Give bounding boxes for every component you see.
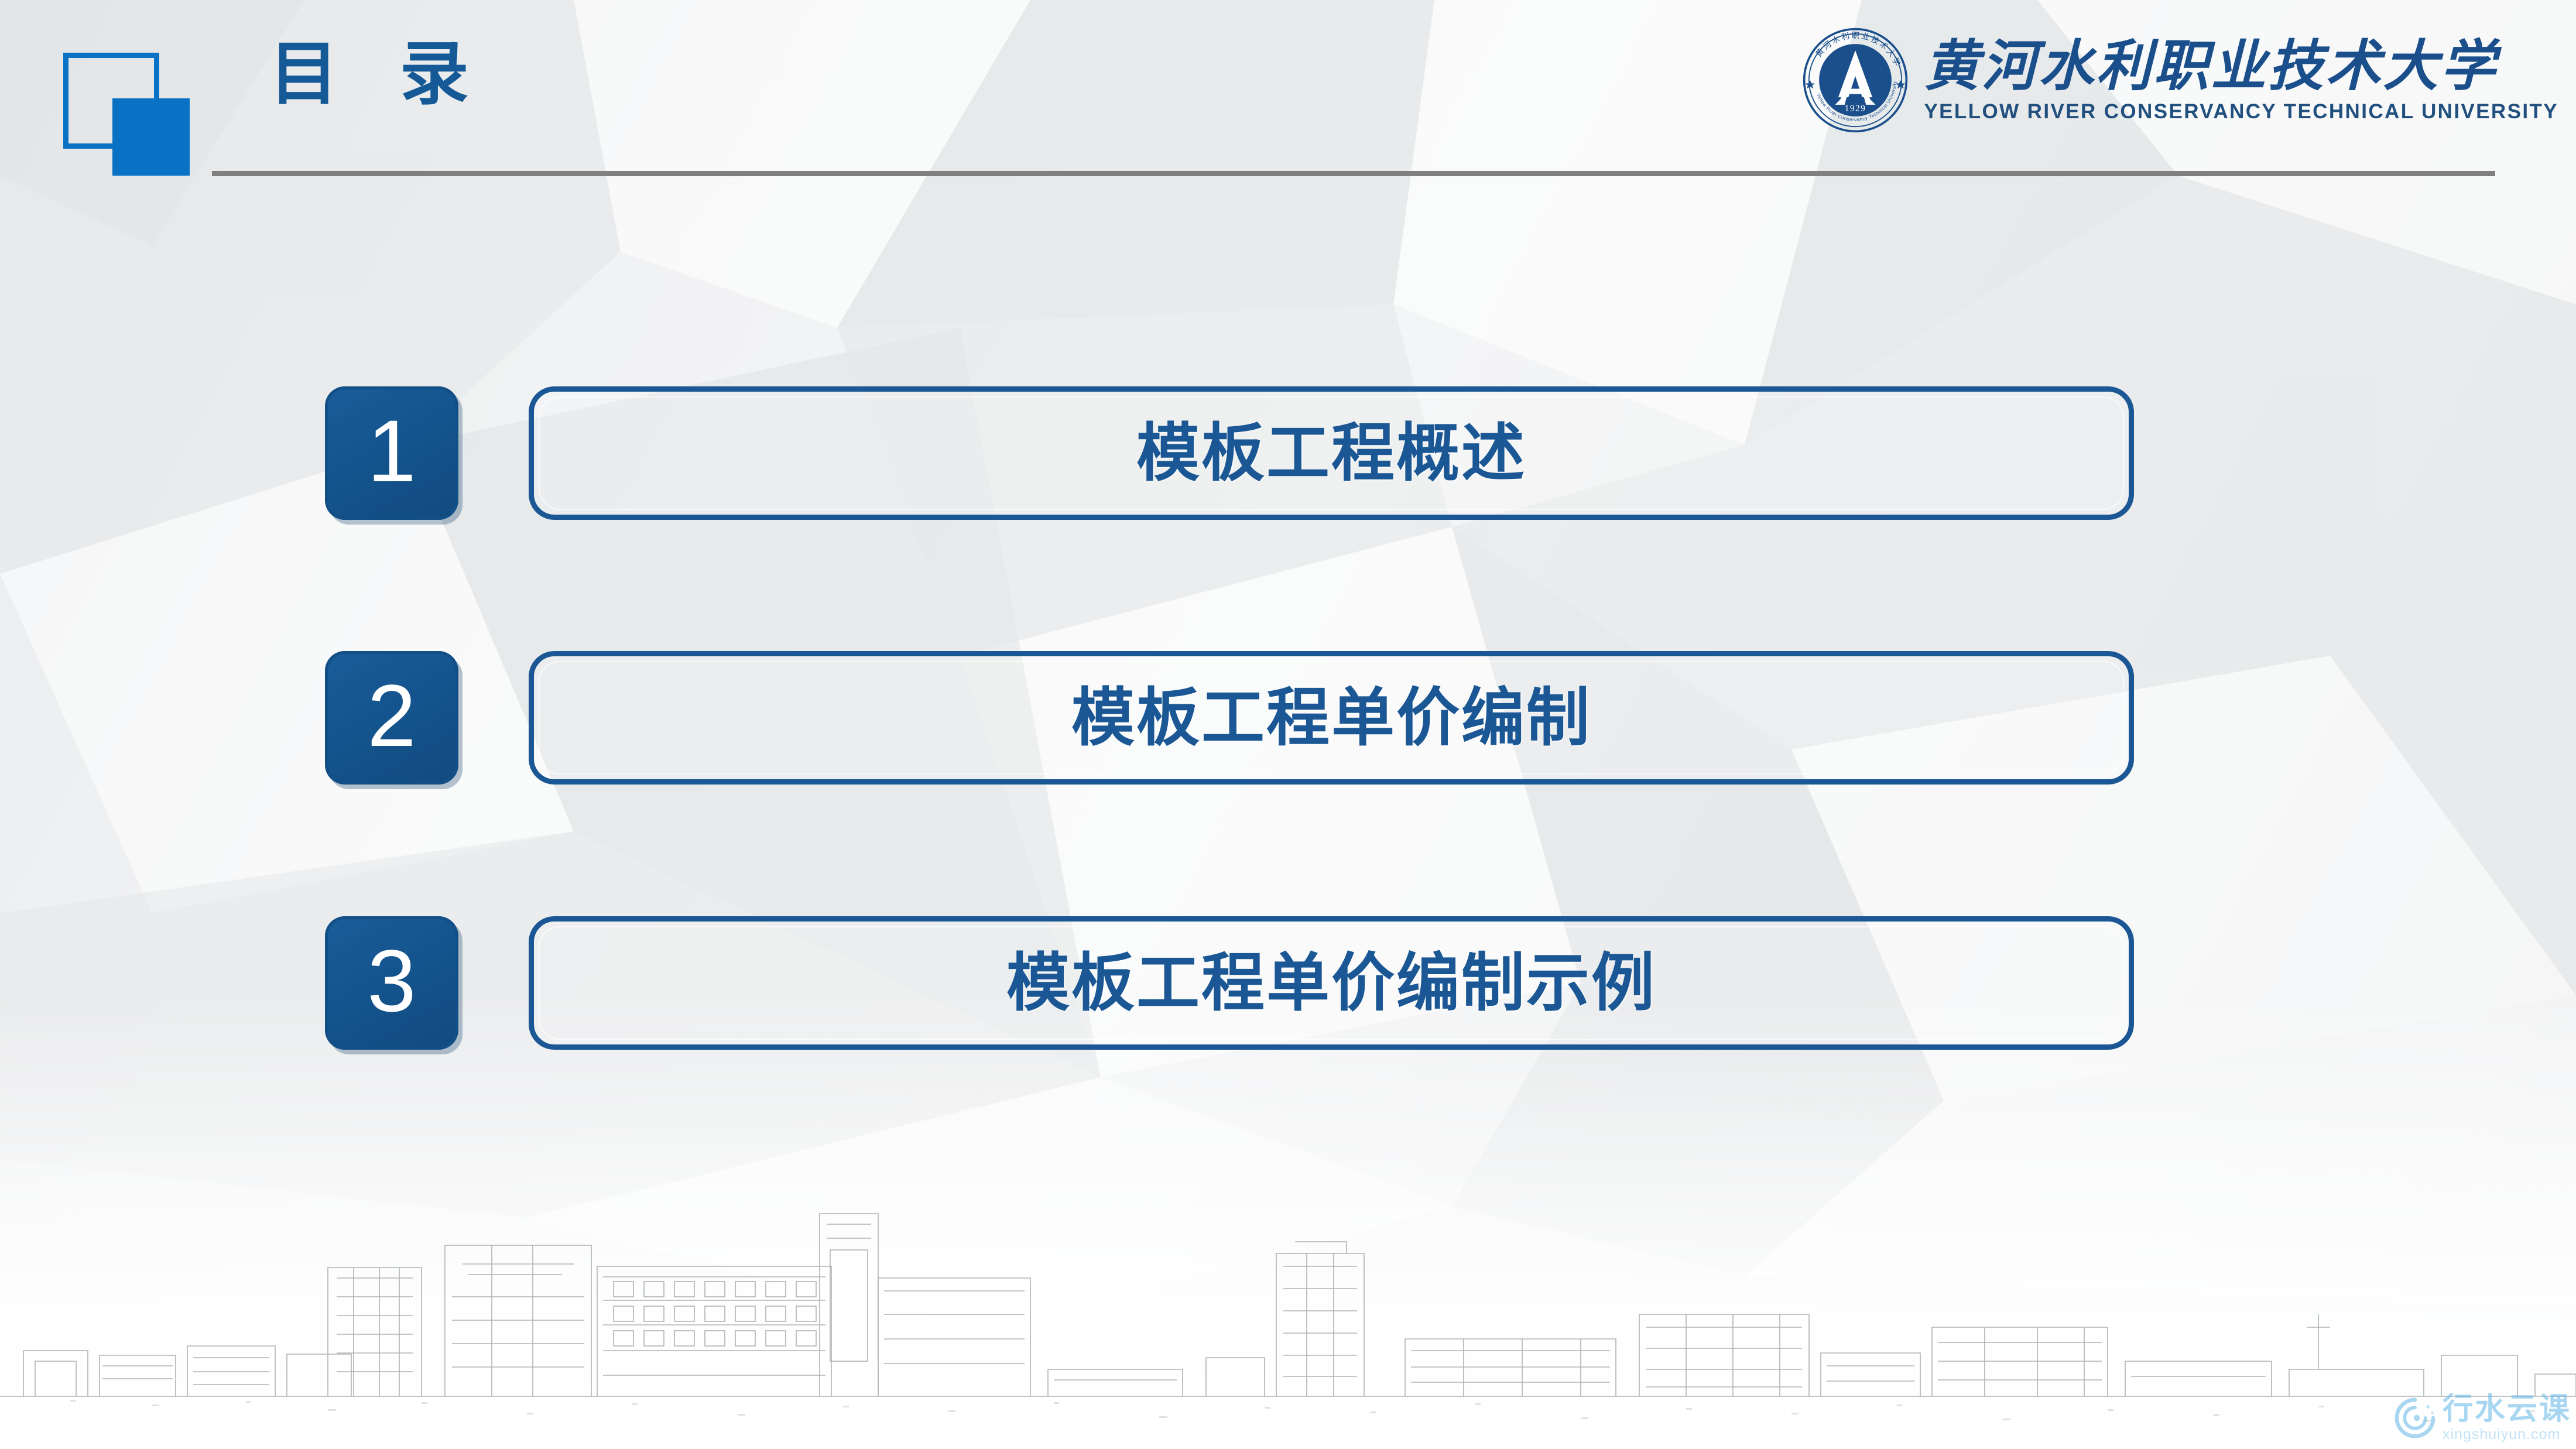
presentation-slide: 目 录 黄河水利职业技术大学 Yellow River Conservancy … (0, 0, 2576, 1449)
agenda-number-1: 1 (367, 407, 416, 495)
agenda-number-badge-3: 3 (325, 916, 458, 1050)
watermark: 行水云课 xingshuiyun.com (2393, 1394, 2571, 1442)
agenda-bar-2[interactable]: 模板工程单价编制 (529, 651, 2134, 785)
agenda-list: 1 模板工程概述 2 模板工程单价编制 3 模板工程单价编制示例 (0, 0, 2576, 1449)
wave-swirl-icon (2393, 1396, 2437, 1440)
agenda-item-2[interactable]: 2 模板工程单价编制 (325, 650, 2134, 786)
agenda-bar-1[interactable]: 模板工程概述 (529, 386, 2134, 520)
agenda-item-3[interactable]: 3 模板工程单价编制示例 (325, 915, 2134, 1051)
watermark-name-en: xingshuiyun.com (2443, 1427, 2571, 1442)
agenda-bar-3[interactable]: 模板工程单价编制示例 (529, 916, 2134, 1050)
agenda-number-3: 3 (367, 937, 416, 1025)
agenda-label-3: 模板工程单价编制示例 (1006, 951, 1656, 1015)
agenda-item-1[interactable]: 1 模板工程概述 (325, 385, 2134, 521)
agenda-label-2: 模板工程单价编制 (1071, 686, 1591, 749)
agenda-number-2: 2 (367, 672, 416, 759)
agenda-label-1: 模板工程概述 (1136, 422, 1526, 485)
watermark-name-cn: 行水云课 (2443, 1394, 2571, 1424)
agenda-number-badge-1: 1 (325, 386, 458, 520)
agenda-number-badge-2: 2 (325, 651, 458, 785)
